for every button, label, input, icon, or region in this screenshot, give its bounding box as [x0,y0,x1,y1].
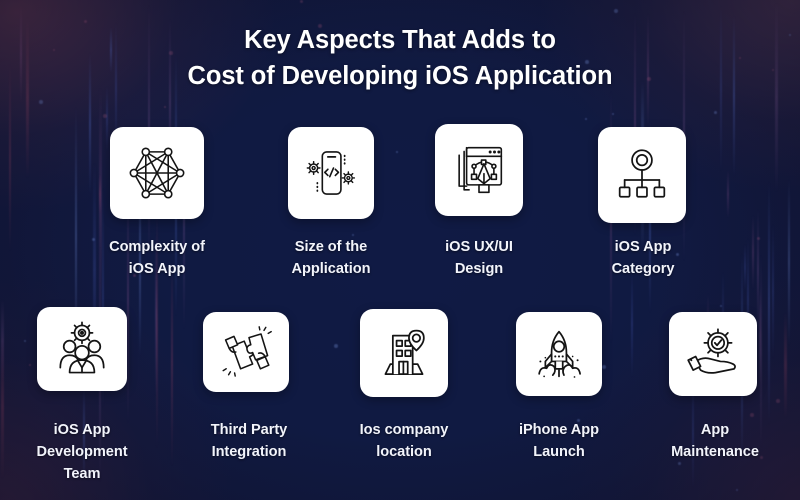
hierarchy-chart-icon [611,144,673,206]
caption-line-2: Launch [480,441,638,463]
caption-line-1: Size of the [252,236,410,258]
caption-line-1: iOS UX/UI [400,236,558,258]
card-ios-company-location[interactable] [360,309,448,397]
caption-iphone-app-launch: iPhone AppLaunch [480,419,638,463]
caption-ios-ux-ui-design: iOS UX/UIDesign [400,236,558,280]
caption-line-2: Maintenance [636,441,794,463]
team-gear-icon [51,318,113,380]
caption-line-1: Ios company [325,419,483,441]
infographic-poster: Key Aspects That Adds toCost of Developi… [0,0,800,500]
caption-line-2: Application [252,258,410,280]
caption-line-2: Category [564,258,722,280]
caption-line-2: Development [2,441,162,463]
network-graph-icon [124,140,190,206]
caption-line-1: iOS App [2,419,162,441]
hand-gear-check-icon [682,323,744,385]
caption-ios-app-category: iOS AppCategory [564,236,722,280]
card-ios-app-category[interactable] [598,127,686,223]
caption-line-2: Design [400,258,558,280]
card-complexity-of-ios-app[interactable] [110,127,204,219]
caption-ios-company-location: Ios companylocation [325,419,483,463]
caption-ios-app-development-team: iOS AppDevelopmentTeam [2,419,162,486]
caption-line-1: App [636,419,794,441]
caption-line-1: Complexity of [78,236,236,258]
building-location-pin-icon [373,322,435,384]
caption-complexity-of-ios-app: Complexity ofiOS App [78,236,236,280]
caption-line-2: location [325,441,483,463]
caption-line-1: iPhone App [480,419,638,441]
card-ios-ux-ui-design[interactable] [435,124,523,216]
caption-size-of-the-application: Size of theApplication [252,236,410,280]
phone-code-gears-icon [300,142,362,204]
card-iphone-app-launch[interactable] [516,312,602,396]
caption-line-1: Third Party [170,419,328,441]
card-ios-app-development-team[interactable] [37,307,127,391]
card-app-maintenance[interactable] [669,312,757,396]
puzzle-handshake-icon [216,322,276,382]
caption-line-2: Integration [170,441,328,463]
rocket-launch-icon [528,323,590,385]
caption-line-1: iOS App [564,236,722,258]
browser-pen-tool-icon [448,139,510,201]
card-size-of-the-application[interactable] [288,127,374,219]
card-third-party-integration[interactable] [203,312,289,392]
page-title-line-1: Key Aspects That Adds to [0,22,800,58]
caption-app-maintenance: AppMaintenance [636,419,794,463]
caption-line-2: iOS App [78,258,236,280]
page-title-line-2: Cost of Developing iOS Application [0,58,800,94]
caption-line-3: Team [2,463,162,485]
page-title: Key Aspects That Adds toCost of Developi… [0,22,800,94]
caption-third-party-integration: Third PartyIntegration [170,419,328,463]
